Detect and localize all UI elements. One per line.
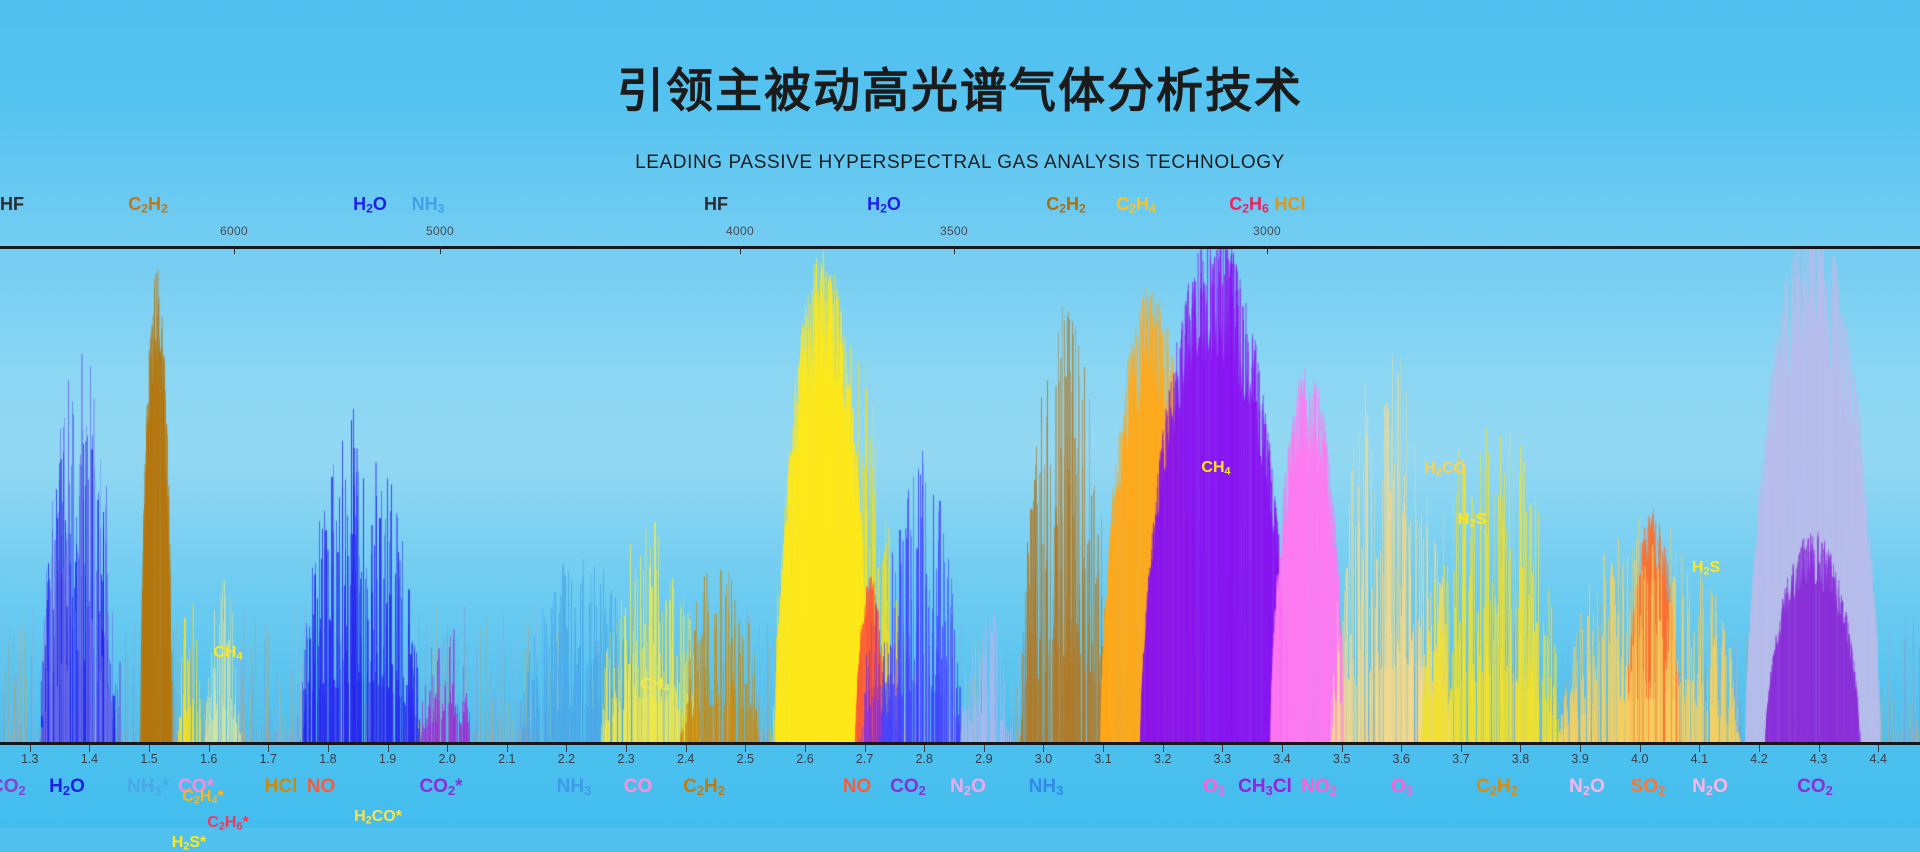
bottom-tick-label: 2.7: [856, 752, 873, 766]
bottom-tick-label: 2.3: [617, 752, 634, 766]
top-species-c2h2: C2H2: [128, 194, 168, 216]
bottom-tick-label: 3.1: [1094, 752, 1111, 766]
top-tick-mark: [234, 246, 235, 254]
bottom-tick-label: 4.2: [1750, 752, 1767, 766]
bottom-species-o3: O3: [1391, 776, 1413, 798]
top-species-c2h6: C2H6: [1229, 194, 1269, 216]
bottom-species-co2: CO2: [890, 776, 926, 798]
bottom-tick-label: 1.5: [140, 752, 157, 766]
bottom-species-n2o: N2O: [1692, 776, 1728, 798]
bottom-species-n2o: N2O: [1569, 776, 1605, 798]
bottom-species-co: CO: [624, 776, 653, 798]
bottom-tick-mark: [89, 745, 90, 752]
bottom-tick-mark: [1401, 745, 1402, 752]
bottom-tick-mark: [1640, 745, 1641, 752]
spectrum-canvas: [0, 248, 1920, 742]
bottom-tick-mark: [1699, 745, 1700, 752]
spectrum-plot-area: [0, 248, 1920, 742]
bottom-species-nh3: NH3: [557, 776, 592, 798]
bottom-tick-label: 3.3: [1214, 752, 1231, 766]
bottom-tick-mark: [1580, 745, 1581, 752]
top-species-c2h2: C2H2: [1046, 194, 1086, 216]
bottom-tick-label: 2.2: [558, 752, 575, 766]
inplot-species-h2s: H2S: [1692, 559, 1720, 577]
bottom-tick-label: 2.9: [975, 752, 992, 766]
top-tick-mark: [954, 246, 955, 254]
bottom-species-co2: CO2: [1797, 776, 1833, 798]
top-axis-line: [0, 246, 1920, 249]
top-tick-mark: [1267, 246, 1268, 254]
top-tick-mark: [740, 246, 741, 254]
top-tick-label: 6000: [220, 224, 248, 238]
bottom-tick-label: 3.2: [1154, 752, 1171, 766]
inplot-species-ch4: CH4: [1201, 459, 1230, 477]
bottom-tick-mark: [1282, 745, 1283, 752]
bottom-species-so2: SO2: [1631, 776, 1666, 798]
bottom-tick-label: 2.8: [916, 752, 933, 766]
bottom-axis-line: [0, 742, 1920, 745]
bottom-species-c2h2: C2H2: [683, 776, 725, 798]
top-tick-label: 3500: [940, 224, 968, 238]
bottom-tick-mark: [805, 745, 806, 752]
bottom-tick-mark: [1461, 745, 1462, 752]
bottom-tick-label: 1.6: [200, 752, 217, 766]
top-species-c2h4: C2H4: [1116, 194, 1156, 216]
bottom-tick-label: 2.6: [796, 752, 813, 766]
bottom-tick-label: 1.9: [379, 752, 396, 766]
top-species-h2o: H2O: [867, 194, 901, 216]
bottom-tick-label: 3.8: [1512, 752, 1529, 766]
bottom-species-no: NO: [307, 776, 336, 798]
bottom-species-ch3cl: CH3Cl: [1238, 776, 1292, 798]
bottom-tick-mark: [745, 745, 746, 752]
top-species-hf: HF: [704, 194, 728, 215]
bottom-tick-label: 3.7: [1452, 752, 1469, 766]
bottom-tick-label: 2.4: [677, 752, 694, 766]
spectrum-chart: 60005000400035003000 1.31.41.51.61.71.81…: [0, 196, 1920, 828]
bottom-tick-label: 4.4: [1870, 752, 1887, 766]
bottom-species-nh3: NH3*: [127, 776, 169, 798]
bottom-tick-label: 1.7: [260, 752, 277, 766]
top-species-h2o: H2O: [353, 194, 387, 216]
bottom-tick-mark: [1342, 745, 1343, 752]
bottom-tick-mark: [1043, 745, 1044, 752]
bottom-species-o3: O3: [1203, 776, 1225, 798]
bottom-species-co2: CO2: [0, 776, 26, 798]
bottom-tick-mark: [686, 745, 687, 752]
bottom-tick-label: 3.0: [1035, 752, 1052, 766]
bottom-tick-label: 4.0: [1631, 752, 1648, 766]
inplot-species-h2co: H2CO*: [354, 808, 402, 826]
bottom-tick-mark: [507, 745, 508, 752]
bottom-tick-label: 3.9: [1571, 752, 1588, 766]
page-title: 引领主被动高光谱气体分析技术: [0, 52, 1920, 121]
bottom-tick-label: 3.5: [1333, 752, 1350, 766]
bottom-tick-mark: [984, 745, 985, 752]
inplot-species-h2co: H2CO: [1424, 460, 1466, 478]
bottom-tick-label: 3.6: [1393, 752, 1410, 766]
bottom-species-co2: CO2*: [419, 776, 462, 798]
bottom-species-hcl: HCl: [265, 776, 298, 798]
bottom-tick-label: 1.3: [21, 752, 38, 766]
bottom-tick-label: 3.4: [1273, 752, 1290, 766]
inplot-species-c2h6: C2H6*: [207, 814, 248, 832]
inplot-species-h2s: H2S: [818, 461, 846, 479]
top-species-hcl: HCl: [1275, 194, 1306, 215]
inplot-species-h2s: H2S: [1458, 511, 1486, 529]
bottom-tick-mark: [209, 745, 210, 752]
bottom-tick-mark: [1222, 745, 1223, 752]
bottom-tick-mark: [328, 745, 329, 752]
bottom-tick-mark: [1878, 745, 1879, 752]
bottom-tick-mark: [447, 745, 448, 752]
page-header: 引领主被动高光谱气体分析技术 LEADING PASSIVE HYPERSPEC…: [0, 0, 1920, 196]
bottom-tick-label: 1.4: [81, 752, 98, 766]
top-tick-label: 3000: [1253, 224, 1281, 238]
bottom-tick-mark: [1520, 745, 1521, 752]
bottom-species-no: NO: [843, 776, 872, 798]
inplot-species-ch4: CH4: [213, 644, 242, 662]
bottom-tick-label: 2.0: [439, 752, 456, 766]
bottom-species-n2o: N2O: [950, 776, 986, 798]
top-tick-mark: [440, 246, 441, 254]
inplot-species-c2h4: C2H4*: [182, 788, 223, 806]
page-subtitle: LEADING PASSIVE HYPERSPECTRAL GAS ANALYS…: [0, 152, 1920, 174]
bottom-tick-mark: [388, 745, 389, 752]
bottom-tick-mark: [924, 745, 925, 752]
bottom-tick-mark: [268, 745, 269, 752]
inplot-species-ch4: CH4: [640, 676, 669, 694]
bottom-tick-mark: [626, 745, 627, 752]
bottom-tick-mark: [1819, 745, 1820, 752]
bottom-tick-mark: [1103, 745, 1104, 752]
bottom-species-no2: NO2: [1301, 776, 1337, 798]
bottom-tick-mark: [566, 745, 567, 752]
bottom-tick-label: 2.1: [498, 752, 515, 766]
bottom-tick-mark: [149, 745, 150, 752]
bottom-species-h2o: H2O: [49, 776, 85, 798]
bottom-species-c2h2: C2H2: [1476, 776, 1518, 798]
bottom-tick-mark: [865, 745, 866, 752]
bottom-tick-label: 4.1: [1691, 752, 1708, 766]
top-tick-label: 4000: [726, 224, 754, 238]
bottom-tick-label: 1.8: [319, 752, 336, 766]
top-species-hf: HF: [0, 194, 24, 215]
inplot-species-h2s: H2S*: [172, 834, 207, 852]
bottom-tick-label: 4.3: [1810, 752, 1827, 766]
bottom-species-nh3: NH3: [1029, 776, 1064, 798]
bottom-tick-mark: [30, 745, 31, 752]
top-species-nh3: NH3: [412, 194, 445, 216]
bottom-tick-mark: [1759, 745, 1760, 752]
bottom-tick-mark: [1163, 745, 1164, 752]
top-tick-label: 5000: [426, 224, 454, 238]
bottom-tick-label: 2.5: [737, 752, 754, 766]
